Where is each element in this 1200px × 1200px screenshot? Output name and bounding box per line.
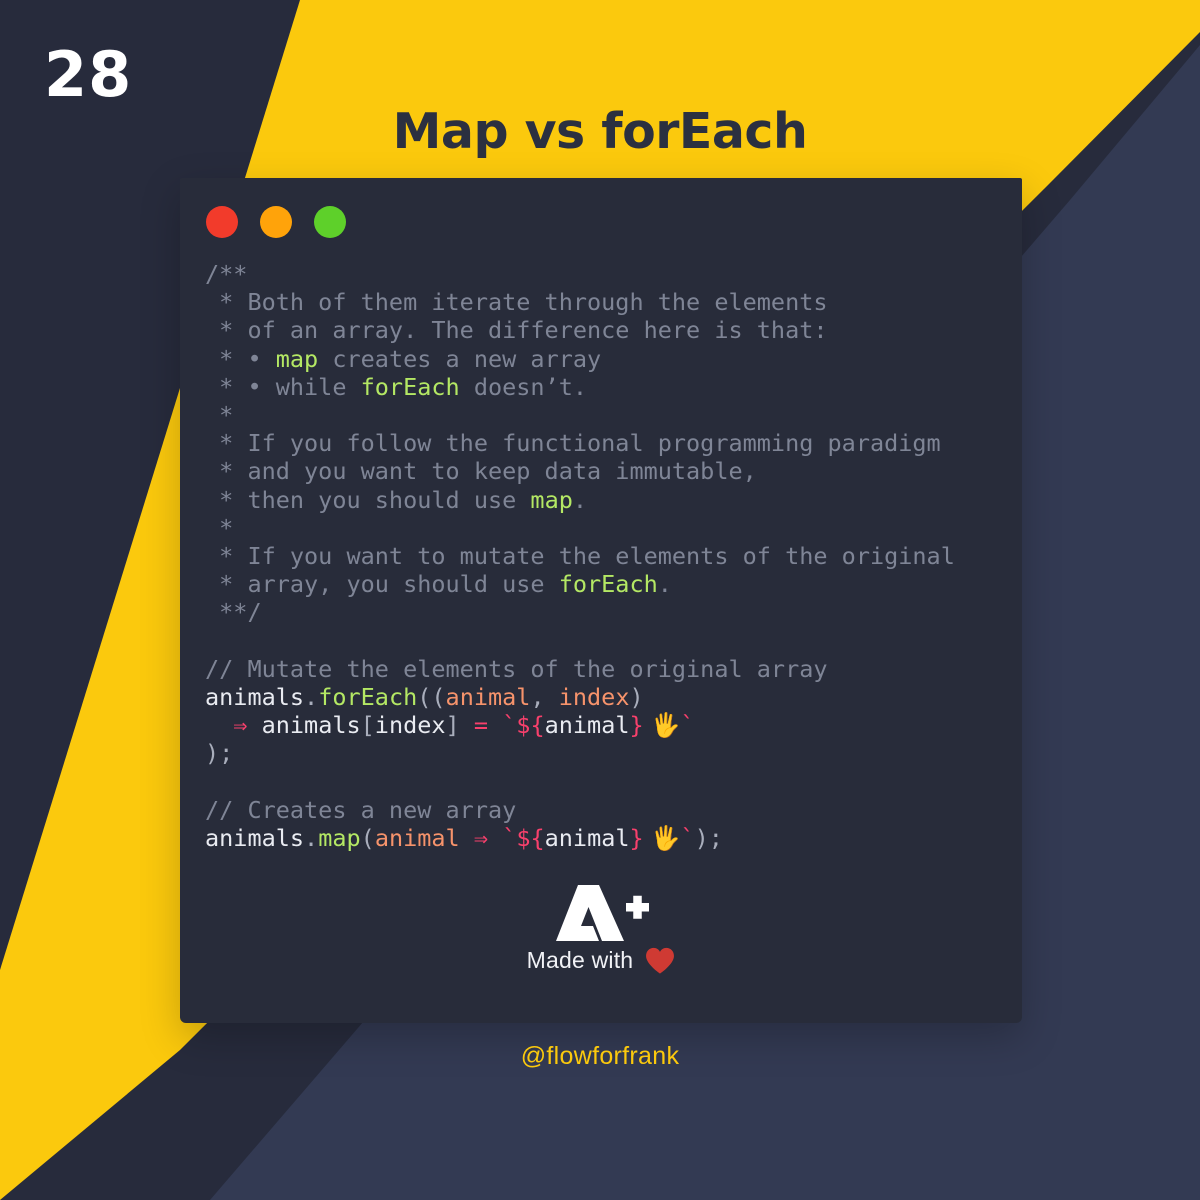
- code-token: index: [375, 711, 446, 739]
- poster-canvas: 28 Map vs forEach /** * Both of them ite…: [0, 0, 1200, 1200]
- code-token: .: [658, 570, 672, 598]
- code-token: forEach: [318, 683, 417, 711]
- code-token: ⇒: [474, 824, 488, 852]
- code-token: /**: [205, 260, 247, 288]
- code-token: doesn’t.: [460, 373, 587, 401]
- code-line: animals.map(animal ⇒ `${animal} 🖐`);: [205, 824, 1004, 852]
- code-token: (: [361, 824, 375, 852]
- window-close-dot[interactable]: [206, 206, 238, 238]
- code-token: * If you want to mutate the elements of …: [205, 542, 955, 570]
- author-handle[interactable]: @flowforfrank: [0, 1042, 1200, 1071]
- code-line: // Creates a new array: [205, 796, 1004, 824]
- code-line: ⇒ animals[index] = `${animal} 🖐`: [205, 711, 1004, 739]
- code-token: `${: [502, 824, 544, 852]
- window-maximize-dot[interactable]: [314, 206, 346, 238]
- code-line: * • while forEach doesn’t.: [205, 373, 1004, 401]
- code-token: [205, 711, 233, 739]
- code-token: * Both of them iterate through the eleme…: [205, 288, 828, 316]
- code-token: animal: [545, 824, 630, 852]
- code-token: animals: [205, 683, 304, 711]
- code-line: [205, 627, 1004, 655]
- code-token: map: [276, 345, 318, 373]
- code-token: }: [630, 711, 644, 739]
- code-token: map: [530, 486, 572, 514]
- code-token: * then you should use: [205, 486, 530, 514]
- code-line: * array, you should use forEach.: [205, 570, 1004, 598]
- a-plus-logo-icon: [553, 885, 649, 941]
- code-token: // Creates a new array: [205, 796, 516, 824]
- code-token: index: [559, 683, 630, 711]
- code-line: * and you want to keep data immutable,: [205, 457, 1004, 485]
- code-token: [: [361, 711, 375, 739]
- code-line: * If you follow the functional programmi…: [205, 429, 1004, 457]
- brand-block: Made with: [180, 885, 1022, 974]
- code-line: * of an array. The difference here is th…: [205, 316, 1004, 344]
- code-token: map: [318, 824, 360, 852]
- code-token: ((: [417, 683, 445, 711]
- code-token: [460, 824, 474, 852]
- made-with-label: Made with: [527, 947, 634, 974]
- code-line: [205, 768, 1004, 796]
- code-token: **/: [205, 598, 262, 626]
- code-token: .: [573, 486, 587, 514]
- code-token: `: [680, 824, 694, 852]
- code-token: *: [205, 514, 233, 542]
- code-token: *: [205, 401, 233, 429]
- code-token: ): [629, 683, 643, 711]
- code-token: animal: [375, 824, 460, 852]
- code-line: **/: [205, 598, 1004, 626]
- code-token: * and you want to keep data immutable,: [205, 457, 757, 485]
- code-token: 🖐: [644, 711, 681, 739]
- code-token: animals: [247, 711, 360, 739]
- heart-icon: [645, 947, 675, 974]
- code-token: 🖐: [644, 824, 681, 852]
- code-line: // Mutate the elements of the original a…: [205, 655, 1004, 683]
- code-token: }: [630, 824, 644, 852]
- page-title: Map vs forEach: [0, 103, 1200, 160]
- code-token: creates a new array: [318, 345, 601, 373]
- code-token: [488, 824, 502, 852]
- code-line: * • map creates a new array: [205, 345, 1004, 373]
- window-controls: [206, 206, 346, 238]
- code-token: * •: [205, 345, 276, 373]
- code-line: * then you should use map.: [205, 486, 1004, 514]
- code-token: * If you follow the functional programmi…: [205, 429, 941, 457]
- code-line: * Both of them iterate through the eleme…: [205, 288, 1004, 316]
- code-token: =: [460, 711, 502, 739]
- code-line: animals.forEach((animal, index): [205, 683, 1004, 711]
- code-line: );: [205, 739, 1004, 767]
- code-token: `${: [502, 711, 544, 739]
- code-line: * If you want to mutate the elements of …: [205, 542, 1004, 570]
- code-token: .: [304, 824, 318, 852]
- code-token: animals: [205, 824, 304, 852]
- code-token: );: [695, 824, 723, 852]
- code-token: ]: [446, 711, 460, 739]
- code-token: ,: [530, 683, 558, 711]
- code-token: // Mutate the elements of the original a…: [205, 655, 828, 683]
- code-token: forEach: [361, 373, 460, 401]
- code-token: `: [680, 711, 694, 739]
- code-token: * array, you should use: [205, 570, 559, 598]
- code-line: *: [205, 401, 1004, 429]
- code-token: * • while: [205, 373, 361, 401]
- code-window: /** * Both of them iterate through the e…: [180, 178, 1022, 1023]
- code-token: animal: [446, 683, 531, 711]
- code-token: animal: [545, 711, 630, 739]
- code-token: forEach: [559, 570, 658, 598]
- code-token: .: [304, 683, 318, 711]
- issue-number: 28: [44, 44, 132, 106]
- code-line: *: [205, 514, 1004, 542]
- code-token: ⇒: [233, 711, 247, 739]
- made-with-row: Made with: [180, 947, 1022, 974]
- code-token: );: [205, 739, 233, 767]
- code-line: /**: [205, 260, 1004, 288]
- code-token: * of an array. The difference here is th…: [205, 316, 828, 344]
- code-block: /** * Both of them iterate through the e…: [205, 260, 1004, 852]
- window-minimize-dot[interactable]: [260, 206, 292, 238]
